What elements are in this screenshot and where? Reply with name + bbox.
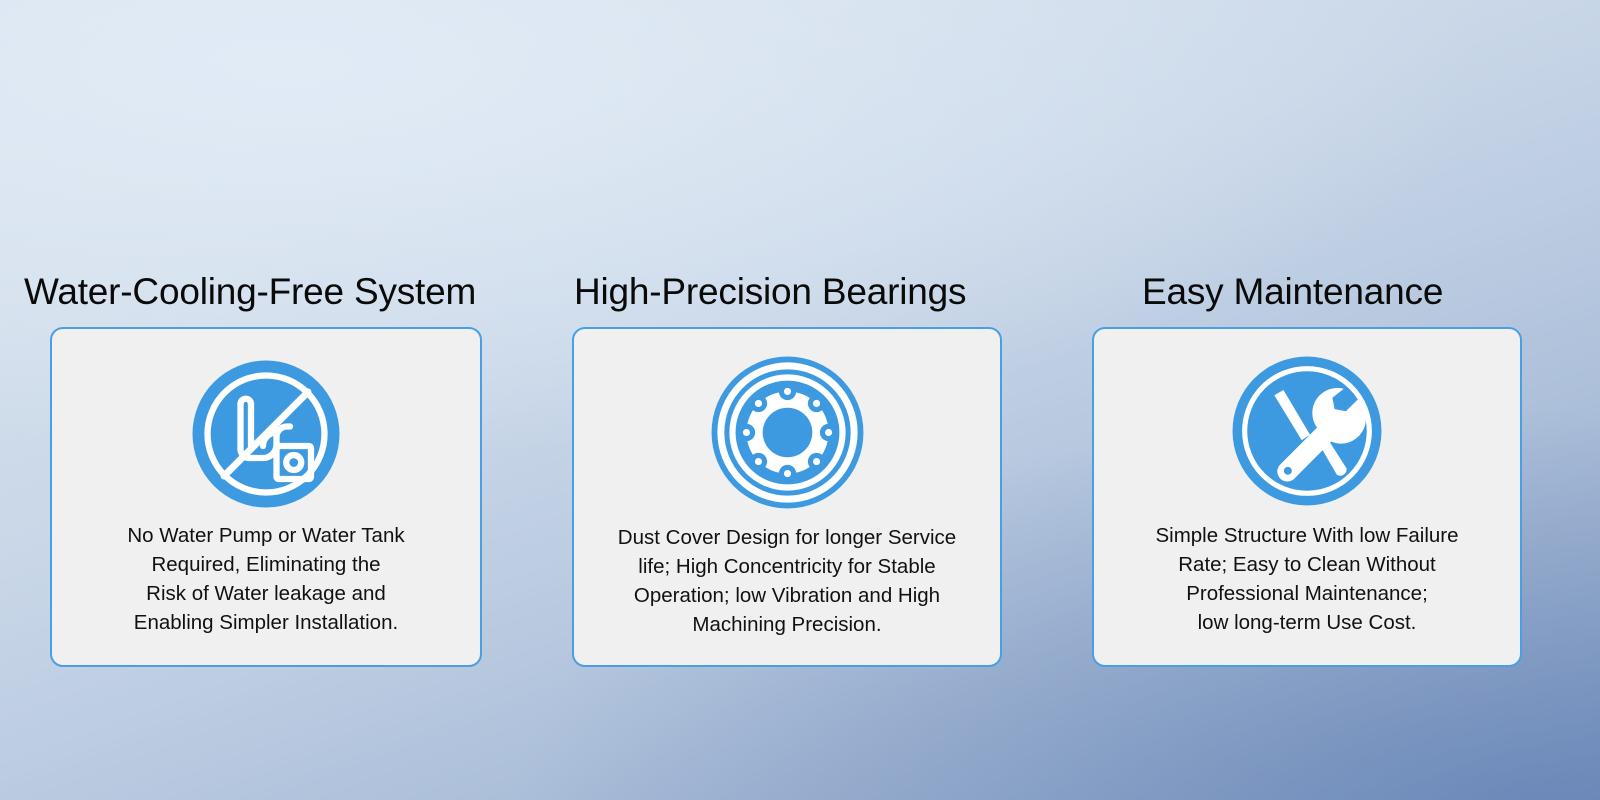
feature-columns: Water-Cooling-Free System	[0, 0, 1600, 800]
feature-description: No Water Pump or Water Tank Required, El…	[113, 521, 418, 637]
ball-bearing-icon	[710, 355, 865, 510]
no-water-pump-icon	[191, 359, 341, 509]
feature-column-high-precision-bearings: High-Precision Bearings	[572, 272, 1002, 667]
feature-column-water-cooling-free: Water-Cooling-Free System	[22, 272, 482, 667]
feature-card: No Water Pump or Water Tank Required, El…	[50, 327, 482, 667]
wrench-screwdriver-icon	[1231, 355, 1383, 507]
feature-description: Simple Structure With low Failure Rate; …	[1141, 521, 1472, 637]
feature-heading: Water-Cooling-Free System	[22, 272, 482, 313]
feature-heading: Easy Maintenance	[1092, 272, 1522, 313]
feature-card: Simple Structure With low Failure Rate; …	[1092, 327, 1522, 667]
feature-column-easy-maintenance: Easy Maintenance Simple Structure With l…	[1092, 272, 1522, 667]
feature-description: Dust Cover Design for longer Service lif…	[604, 523, 970, 639]
feature-card: Dust Cover Design for longer Service lif…	[572, 327, 1002, 667]
feature-heading: High-Precision Bearings	[572, 272, 1002, 313]
